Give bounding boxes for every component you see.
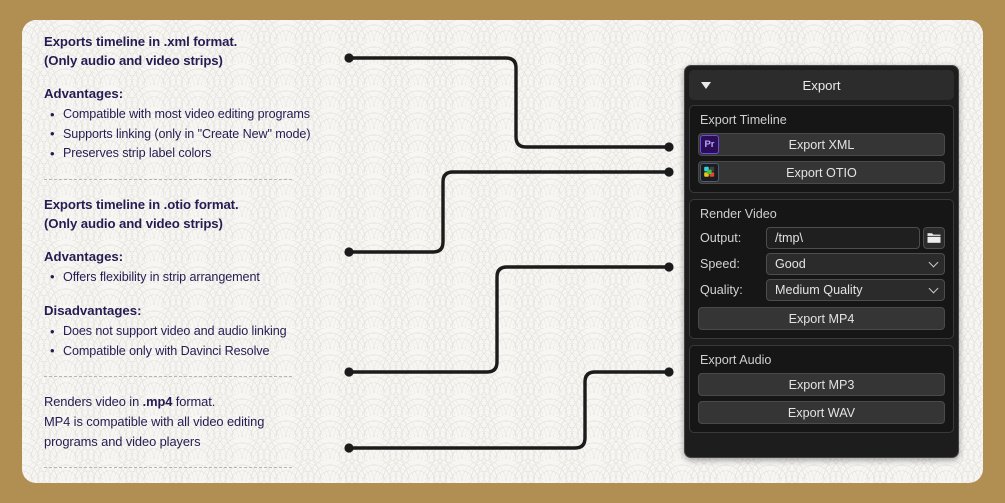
section-title: Export Timeline xyxy=(698,113,945,127)
quality-label: Quality: xyxy=(698,283,766,297)
export-mp3-button[interactable]: Export MP3 xyxy=(698,373,945,396)
output-label: Output: xyxy=(698,231,766,245)
export-otio-label: Export OTIO xyxy=(699,166,944,180)
chevron-down-icon xyxy=(929,283,939,293)
output-path-input[interactable]: /tmp\ xyxy=(766,227,920,249)
section-title: Render Video xyxy=(698,207,945,221)
panel-header[interactable]: Export xyxy=(689,70,954,100)
export-xml-button[interactable]: Pr Export XML xyxy=(698,133,945,156)
panel-title: Export xyxy=(689,78,954,93)
info-card: Exports timeline in .xml format. (Only a… xyxy=(22,20,983,483)
folder-browse-button[interactable] xyxy=(923,227,945,249)
davinci-resolve-icon xyxy=(700,163,719,182)
export-otio-button[interactable]: Export OTIO xyxy=(698,161,945,184)
speed-value: Good xyxy=(775,257,806,271)
export-panel: Export Export Timeline Pr Export XML xyxy=(684,65,959,458)
export-wav-label: Export WAV xyxy=(699,406,944,420)
section-render-video: Render Video Output: /tmp\ Speed: Good xyxy=(689,199,954,339)
chevron-down-icon xyxy=(929,257,939,267)
section-title: Export Audio xyxy=(698,353,945,367)
section-export-timeline: Export Timeline Pr Export XML Export OTI… xyxy=(689,105,954,193)
output-row: Output: /tmp\ xyxy=(698,227,945,249)
connector-xml xyxy=(349,58,669,147)
export-wav-button[interactable]: Export WAV xyxy=(698,401,945,424)
connector-otio xyxy=(349,172,669,252)
premiere-pro-icon: Pr xyxy=(700,135,719,154)
folder-icon xyxy=(927,232,941,244)
speed-select[interactable]: Good xyxy=(766,253,945,275)
quality-row: Quality: Medium Quality xyxy=(698,279,945,301)
section-export-audio: Export Audio Export MP3 Export WAV xyxy=(689,345,954,433)
export-mp3-label: Export MP3 xyxy=(699,378,944,392)
speed-label: Speed: xyxy=(698,257,766,271)
triangle-down-icon[interactable] xyxy=(701,82,711,89)
speed-row: Speed: Good xyxy=(698,253,945,275)
export-mp4-button[interactable]: Export MP4 xyxy=(698,307,945,330)
quality-value: Medium Quality xyxy=(775,283,863,297)
export-xml-label: Export XML xyxy=(699,138,944,152)
quality-select[interactable]: Medium Quality xyxy=(766,279,945,301)
connector-audio xyxy=(349,372,669,448)
connector-mp4 xyxy=(349,267,669,372)
